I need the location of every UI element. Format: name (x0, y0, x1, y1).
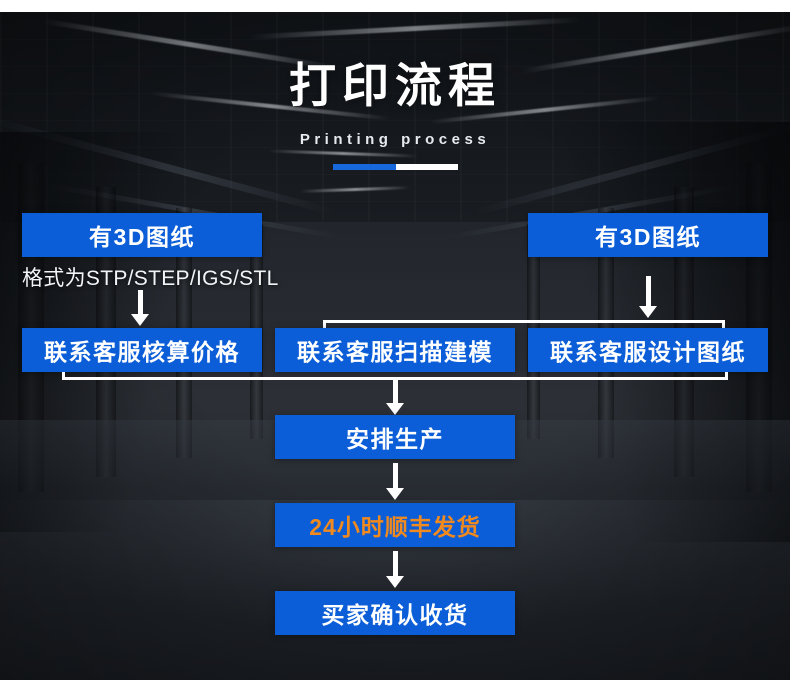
flow-box-step-shipping[interactable]: 24小时顺丰发货 (275, 503, 515, 547)
flow-box-step-production[interactable]: 安排生产 (275, 415, 515, 459)
flow-box-row2-right[interactable]: 联系客服设计图纸 (528, 328, 768, 372)
flow-box-row1-right[interactable]: 有3D图纸 (528, 213, 768, 257)
arrow-down-icon (131, 290, 149, 326)
flow-box-row2-left[interactable]: 联系客服核算价格 (22, 328, 262, 372)
underline-segment-white (396, 164, 458, 170)
flow-box-row1-left[interactable]: 有3D图纸 (22, 213, 262, 257)
flow-box-row2-middle[interactable]: 联系客服扫描建模 (275, 328, 515, 372)
arrow-down-icon (639, 276, 657, 318)
flow-caption-format: 格式为STP/STEP/IGS/STL (22, 262, 262, 292)
bracket-connector-top (323, 320, 725, 323)
flow-box-step-confirm[interactable]: 买家确认收货 (275, 591, 515, 635)
arrow-down-icon (386, 380, 404, 415)
printing-process-infographic: 打印流程 Printing process 有3D图纸 格式为STP/STEP/… (0, 0, 790, 696)
arrow-down-icon (386, 551, 404, 588)
header: 打印流程 Printing process (0, 62, 790, 170)
page-title: 打印流程 (0, 62, 790, 109)
title-underline (0, 164, 790, 170)
underline-segment-blue (333, 164, 396, 170)
arrow-down-icon (386, 463, 404, 500)
page-subtitle: Printing process (0, 131, 790, 148)
